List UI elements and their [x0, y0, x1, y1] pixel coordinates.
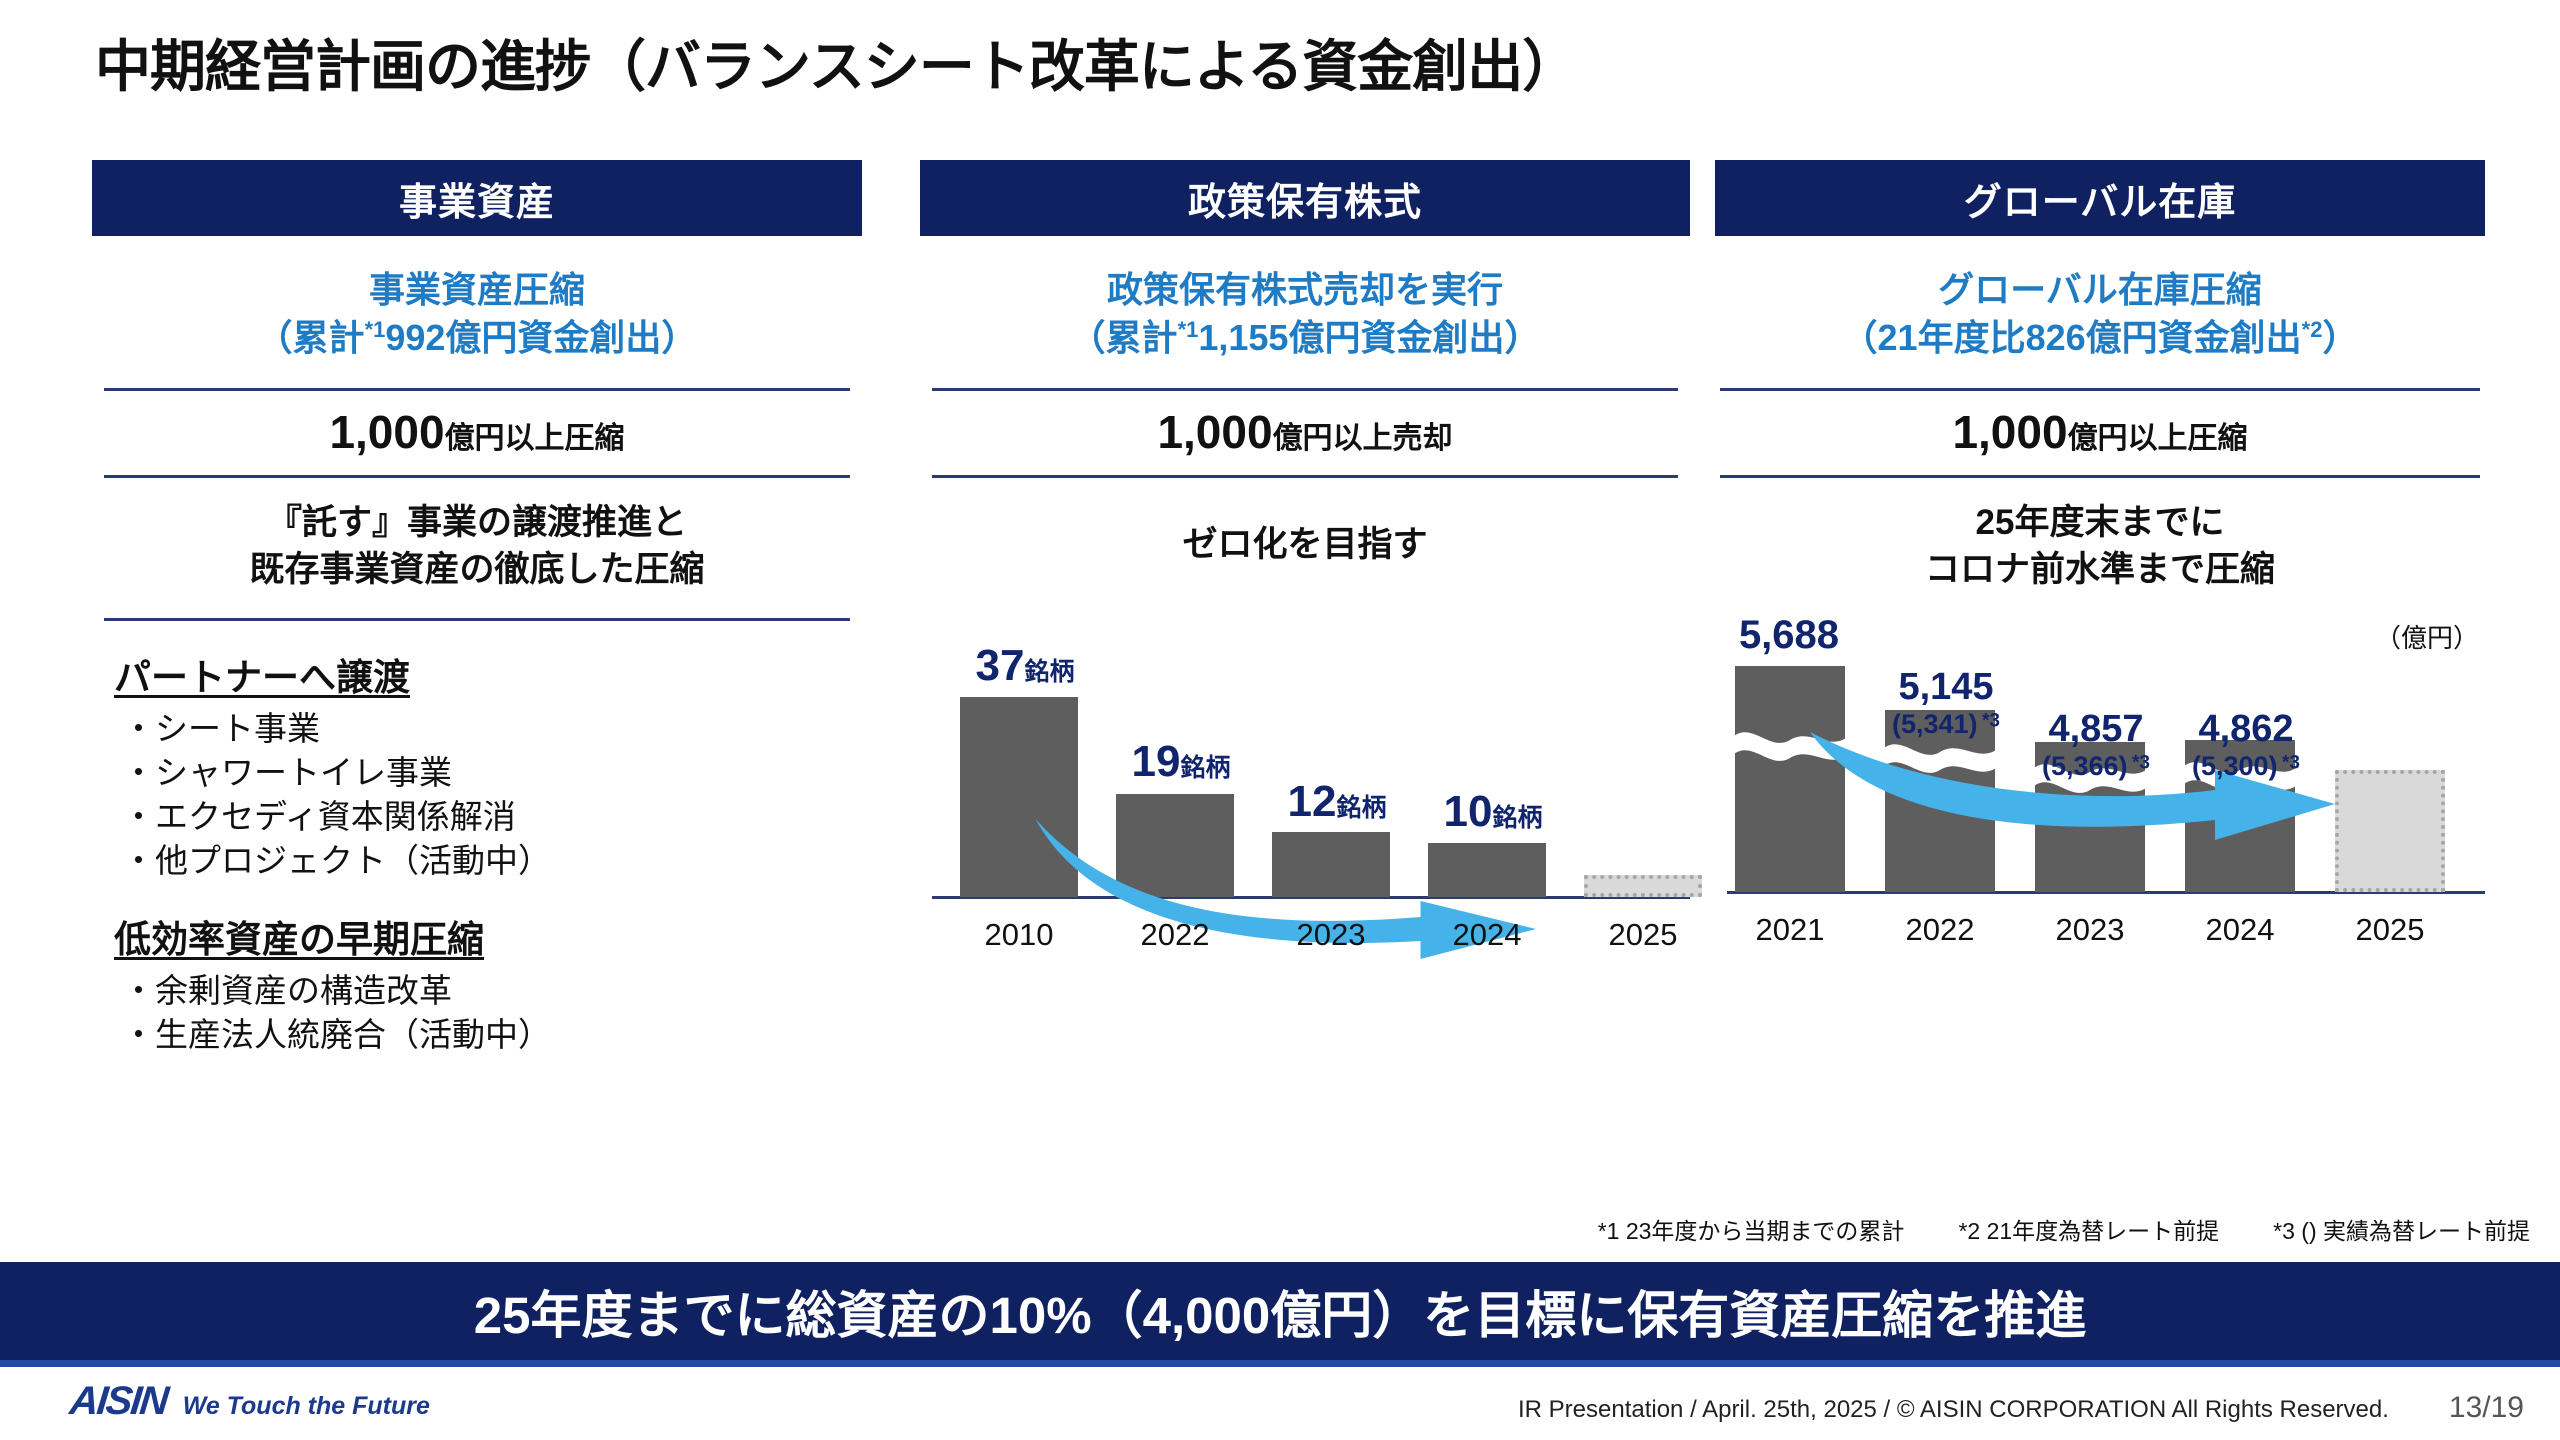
- description-global-inventory: 25年度末までに コロナ前水準まで圧縮: [1715, 478, 2485, 618]
- description-line-2: コロナ前水準まで圧縮: [1715, 547, 2485, 594]
- bullet-group-heading: 低効率資産の早期圧縮: [114, 909, 484, 963]
- bar-value: 37: [976, 641, 1025, 690]
- chart-unit-label: （億円）: [2375, 618, 2479, 655]
- bar-value-suffix: 銘柄: [1492, 804, 1542, 832]
- bar-value: 4,857: [2048, 708, 2143, 750]
- list-item: ・シャワートイレ事業: [114, 751, 862, 795]
- description-line-2: 既存事業資産の徹底した圧縮: [92, 547, 862, 594]
- bar-value: 12: [1288, 777, 1337, 826]
- page-title: 中期経営計画の進捗（バランスシート改革による資金創出）: [95, 22, 1577, 103]
- bar-label-2022: 5,145 (5,341) *3: [1861, 666, 2031, 740]
- bar-2022: [1116, 794, 1234, 897]
- footer: AISIN We Touch the Future IR Presentatio…: [0, 1367, 2560, 1440]
- bar-value-alt: (5,300): [2192, 751, 2278, 781]
- column-header-business-assets: 事業資産: [92, 160, 862, 236]
- page-number: 13/19: [2449, 1391, 2524, 1425]
- aisin-logo: AISIN We Touch the Future: [70, 1379, 430, 1424]
- bar-value-suffix: 銘柄: [1180, 754, 1230, 782]
- subtitle-line-2: （21年度比826億円資金創出*2）: [1715, 314, 2485, 362]
- subtitle-suffix: 1,155億円資金創出）: [1198, 317, 1540, 358]
- x-label-2023: 2023: [2035, 912, 2145, 948]
- target-suffix: 億円以上売却: [1273, 422, 1453, 455]
- description-business-assets: 『託す』事業の譲渡推進と 既存事業資産の徹底した圧縮: [92, 478, 862, 618]
- subtitle-line-2: （累計*1992億円資金創出）: [92, 314, 862, 362]
- bar-2024: [1428, 843, 1546, 897]
- x-label-2010: 2010: [960, 917, 1078, 953]
- policy-shares-chart: 37銘柄 19銘柄 12銘柄 10銘柄 2010 2022 2023 2024 …: [920, 629, 1690, 959]
- column-header-policy-shares: 政策保有株式: [920, 160, 1690, 236]
- bar-2025-projection: [1584, 875, 1702, 897]
- x-label-2025: 2025: [1584, 917, 1702, 953]
- bar-value: 19: [1132, 737, 1181, 786]
- target-value-policy-shares: 1,000億円以上売却: [920, 391, 1690, 475]
- subtitle-suffix: ）: [2322, 317, 2358, 358]
- x-label-2022: 2022: [1116, 917, 1234, 953]
- axis-break-icon: [1885, 742, 1995, 776]
- subtitle-prefix: （累計: [257, 317, 365, 358]
- column-subtitle-global-inventory: グローバル在庫圧縮 （21年度比826億円資金創出*2）: [1715, 266, 2485, 362]
- global-inventory-chart: （億円）: [1715, 624, 2485, 954]
- list-item: ・シート事業: [114, 707, 862, 751]
- description-line-1: 25年度末までに: [1715, 500, 2485, 547]
- description-line-1: 『託す』事業の譲渡推進と: [92, 500, 862, 547]
- bullet-group-partner-transfer: パートナーへ譲渡 ・シート事業 ・シャワートイレ事業 ・エクセディ資本関係解消 …: [92, 647, 862, 883]
- x-label-2024: 2024: [2185, 912, 2295, 948]
- footnote-marker: *3: [1982, 711, 2000, 732]
- footnote-marker: *1: [1178, 317, 1199, 342]
- subtitle-suffix: 992億円資金創出）: [385, 317, 697, 358]
- bullet-group-heading: パートナーへ譲渡: [114, 647, 410, 701]
- footnote-1: *1 23年度から当期までの累計: [1598, 1212, 1905, 1246]
- subtitle-prefix: （累計: [1070, 317, 1178, 358]
- column-header-global-inventory: グローバル在庫: [1715, 160, 2485, 236]
- x-label-2025: 2025: [2335, 912, 2445, 948]
- bar-label-2023: 4,857 (5,366) *3: [2011, 708, 2181, 782]
- subtitle-line-1: 事業資産圧縮: [92, 266, 862, 314]
- subtitle-prefix: （21年度比826億円資金創出: [1842, 317, 2302, 358]
- bar-value: 5,688: [1739, 613, 1839, 657]
- bullet-group-low-efficiency-assets: 低効率資産の早期圧縮 ・余剰資産の構造改革 ・生産法人統廃合（活動中）: [92, 909, 862, 1057]
- bar-value: 10: [1444, 787, 1493, 836]
- description-policy-shares: ゼロ化を目指す: [920, 478, 1690, 615]
- bar-2023: [1272, 832, 1390, 897]
- footer-info-group: IR Presentation / April. 25th, 2025 / © …: [1518, 1391, 2524, 1425]
- target-value-global-inventory: 1,000億円以上圧縮: [1715, 391, 2485, 475]
- x-label-2023: 2023: [1272, 917, 1390, 953]
- x-label-2022: 2022: [1885, 912, 1995, 948]
- list-item: ・エクセディ資本関係解消: [114, 795, 862, 839]
- column-subtitle-business-assets: 事業資産圧縮 （累計*1992億円資金創出）: [92, 266, 862, 362]
- footnotes: *1 23年度から当期までの累計 *2 21年度為替レート前提 *3 () 実績…: [1598, 1212, 2530, 1246]
- logo-wordmark: AISIN: [68, 1379, 169, 1424]
- columns-container: 事業資産 事業資産圧縮 （累計*1992億円資金創出） 1,000億円以上圧縮 …: [0, 160, 2560, 1220]
- x-label-2021: 2021: [1735, 912, 1845, 948]
- axis-break-icon: [1735, 730, 1845, 764]
- target-number: 1,000: [329, 406, 444, 458]
- target-suffix: 億円以上圧縮: [445, 422, 625, 455]
- bar-label-2024: 10銘柄: [1398, 787, 1588, 837]
- description-line-1: ゼロ化を目指す: [920, 522, 1690, 569]
- x-label-2024: 2024: [1428, 917, 1546, 953]
- logo-tagline: We Touch the Future: [183, 1392, 430, 1421]
- footnote-marker: *1: [365, 317, 386, 342]
- column-global-inventory: グローバル在庫 グローバル在庫圧縮 （21年度比826億円資金創出*2） 1,0…: [1715, 160, 2485, 954]
- column-subtitle-policy-shares: 政策保有株式売却を実行 （累計*11,155億円資金創出）: [920, 266, 1690, 362]
- column-policy-shares: 政策保有株式 政策保有株式売却を実行 （累計*11,155億円資金創出） 1,0…: [920, 160, 1690, 959]
- footnote-3: *3 () 実績為替レート前提: [2273, 1212, 2530, 1246]
- bar-value-alt: (5,366): [2042, 751, 2128, 781]
- bar-label-2021: 5,688: [1709, 613, 1869, 658]
- bar-label-2010: 37銘柄: [930, 641, 1120, 691]
- footnote-marker: *2: [2302, 317, 2323, 342]
- summary-banner: 25年度までに総資産の10%（4,000億円）を目標に保有資産圧縮を推進: [0, 1262, 2560, 1360]
- subtitle-line-1: 政策保有株式売却を実行: [920, 266, 1690, 314]
- subtitle-line-2: （累計*11,155億円資金創出）: [920, 314, 1690, 362]
- target-number: 1,000: [1157, 406, 1272, 458]
- divider-bottom: [104, 618, 850, 621]
- bar-value: 5,145: [1898, 666, 1993, 708]
- bar-value-suffix: 銘柄: [1336, 794, 1386, 822]
- footnote-marker: *3: [2282, 753, 2300, 774]
- footnote-2: *2 21年度為替レート前提: [1958, 1212, 2219, 1246]
- bar-label-2024: 4,862 (5,300) *3: [2161, 708, 2331, 782]
- footnote-marker: *3: [2132, 753, 2150, 774]
- banner-accent-bar: [0, 1360, 2560, 1367]
- list-item: ・余剰資産の構造改革: [114, 969, 862, 1013]
- bar-2010: [960, 697, 1078, 897]
- subtitle-line-1: グローバル在庫圧縮: [1715, 266, 2485, 314]
- bar-value-alt: (5,341): [1892, 709, 1978, 739]
- bar-value: 4,862: [2198, 708, 2293, 750]
- list-item: ・生産法人統廃合（活動中）: [114, 1013, 862, 1057]
- footer-copyright: IR Presentation / April. 25th, 2025 / © …: [1518, 1396, 2389, 1424]
- target-suffix: 億円以上圧縮: [2068, 422, 2248, 455]
- bar-2021: [1735, 666, 1845, 892]
- target-value-business-assets: 1,000億円以上圧縮: [92, 391, 862, 475]
- list-item: ・他プロジェクト（活動中）: [114, 839, 862, 883]
- bar-value-suffix: 銘柄: [1024, 658, 1074, 686]
- bar-2025-projection: [2335, 770, 2445, 892]
- column-business-assets: 事業資産 事業資産圧縮 （累計*1992億円資金創出） 1,000億円以上圧縮 …: [92, 160, 862, 1057]
- target-number: 1,000: [1952, 406, 2067, 458]
